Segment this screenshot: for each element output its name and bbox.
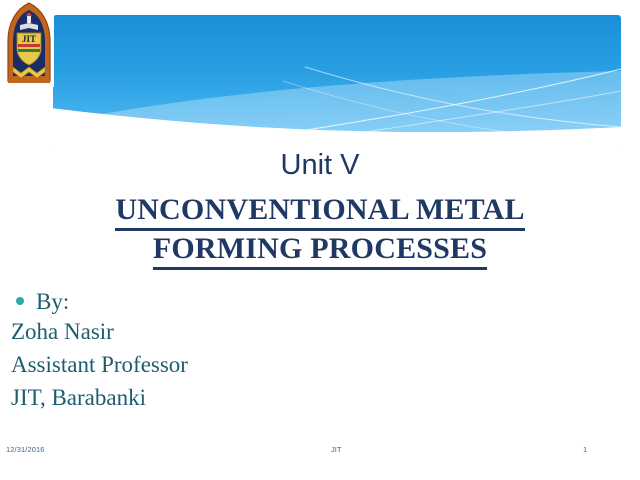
title-line-1: UNCONVENTIONAL METAL — [16, 192, 624, 231]
svg-text:JIT: JIT — [22, 34, 36, 44]
footer-date: 12/31/2016 — [6, 445, 45, 454]
banner-graphic — [53, 15, 621, 148]
institute-logo: JIT — [4, 1, 54, 87]
author-affiliation: JIT, Barabanki — [8, 381, 428, 414]
header-banner — [53, 15, 621, 148]
presentation-slide: JIT Unit V UNCONVENTIONAL METAL FORMING … — [0, 0, 640, 480]
unit-label: Unit V — [0, 148, 640, 182]
author-block: By: Zoha Nasir Assistant Professor JIT, … — [8, 287, 428, 414]
slide-footer: 12/31/2016 JIT 1 — [0, 443, 640, 459]
title-line-2: FORMING PROCESSES — [16, 231, 624, 270]
bullet-icon — [16, 297, 24, 305]
author-name: Zoha Nasir — [8, 315, 428, 348]
page-title: UNCONVENTIONAL METAL FORMING PROCESSES — [16, 192, 624, 270]
by-label: By: — [36, 288, 69, 315]
by-bullet-row: By: — [8, 287, 428, 315]
author-designation: Assistant Professor — [8, 348, 428, 381]
footer-center-text: JIT — [331, 445, 341, 454]
jit-crest-icon: JIT — [4, 1, 54, 87]
footer-page-number: 1 — [583, 445, 587, 454]
